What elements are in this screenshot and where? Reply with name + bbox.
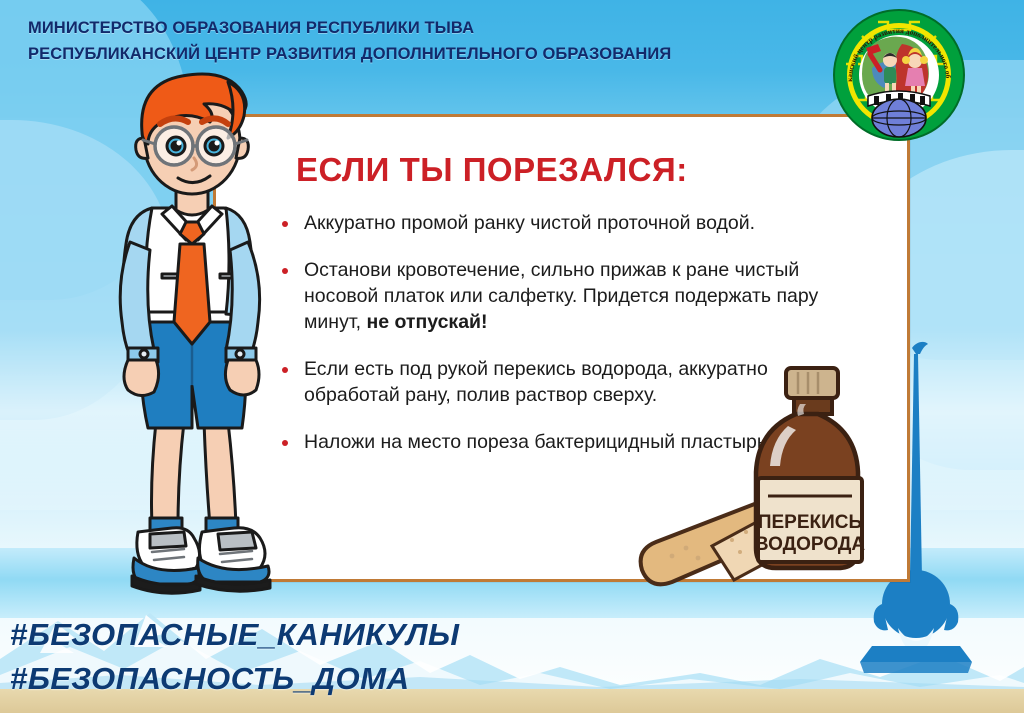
list-item-text: Аккуратно промой ранку чистой проточной …: [304, 212, 755, 234]
hashtag-safe-holidays: #БЕЗОПАСНЫЕ_КАНИКУЛЫ: [10, 613, 460, 657]
hashtags: #БЕЗОПАСНЫЕ_КАНИКУЛЫ #БЕЗОПАСНОСТЬ_ДОМА: [10, 613, 460, 701]
page-title: ЕСЛИ ТЫ ПОРЕЗАЛСЯ:: [296, 151, 877, 189]
header: МИНИСТЕРСТВО ОБРАЗОВАНИЯ РЕСПУБЛИКИ ТЫВА…: [28, 16, 671, 67]
hydrogen-peroxide-illustration: ПЕРЕКИСЬ ВОДОРОДА: [628, 360, 890, 595]
emblem-logo-icon: Республиканский центр развития дополните…: [832, 8, 966, 142]
list-item-emphasis: не отпускай!: [366, 311, 487, 333]
poster-canvas: МИНИСТЕРСТВО ОБРАЗОВАНИЯ РЕСПУБЛИКИ ТЫВА…: [0, 0, 1024, 713]
header-line-center: РЕСПУБЛИКАНСКИЙ ЦЕНТР РАЗВИТИЯ ДОПОЛНИТЕ…: [28, 42, 671, 68]
bottle-icon: ПЕРЕКИСЬ ВОДОРОДА: [755, 368, 866, 568]
bottle-label-line1: ПЕРЕКИСЬ: [758, 512, 862, 533]
bottle-label-line2: ВОДОРОДА: [755, 534, 866, 555]
header-line-ministry: МИНИСТЕРСТВО ОБРАЗОВАНИЯ РЕСПУБЛИКИ ТЫВА: [28, 16, 671, 42]
list-item: Останови кровотечение, сильно прижав к р…: [278, 258, 844, 336]
list-item: Аккуратно промой ранку чистой проточной …: [278, 211, 844, 237]
schoolboy-illustration: [78, 66, 306, 596]
hashtag-home-safety: #БЕЗОПАСНОСТЬ_ДОМА: [10, 657, 460, 701]
